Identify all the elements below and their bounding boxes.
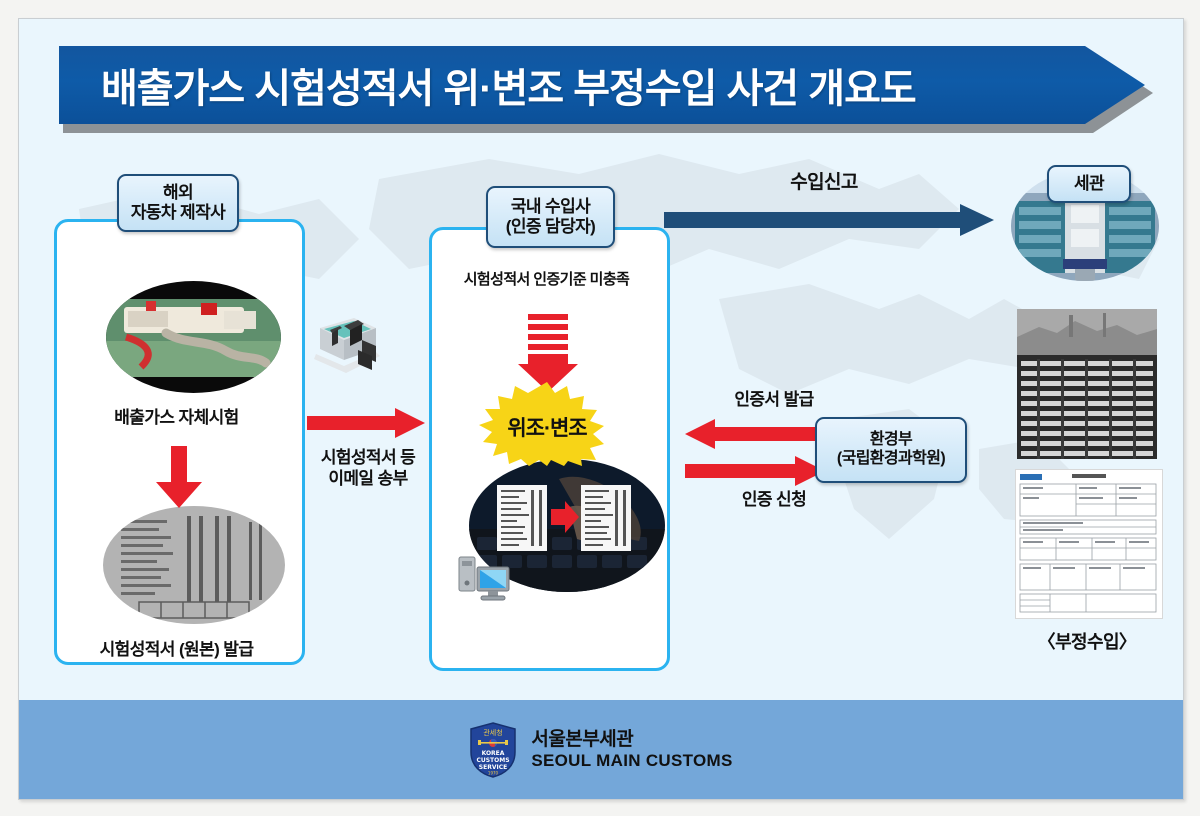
chip-ministry-line1: 환경부 xyxy=(870,431,912,450)
photo-import-declaration-form xyxy=(1015,469,1163,619)
chip-ministry-environment: 환경부 (국립환경과학원) xyxy=(815,417,967,483)
page-title: 배출가스 시험성적서 위·변조 부정수입 사건 개요도 xyxy=(59,56,916,114)
burst-forgery: 위조·변조 xyxy=(471,382,623,466)
footer-org-text: 서울본부세관 SEOUL MAIN CUSTOMS xyxy=(531,729,732,770)
arrow-right-red-email xyxy=(307,408,425,438)
photo-car-lot xyxy=(1017,309,1157,459)
caption-email-send-line1: 시험성적서 등 xyxy=(304,447,432,468)
banner-body: 배출가스 시험성적서 위·변조 부정수입 사건 개요도 xyxy=(59,46,1145,124)
caption-email-send: 시험성적서 등 이메일 송부 xyxy=(304,447,432,490)
arrow-left-red-cert-issue xyxy=(685,419,825,449)
burst-forgery-label: 위조·변조 xyxy=(471,412,623,442)
content-card: 배출가스 시험성적서 위·변조 부정수입 사건 개요도 해외 자동차 제작사 xyxy=(18,18,1184,800)
chip-overseas-maker: 해외 자동차 제작사 xyxy=(117,174,239,232)
chip-domestic-importer: 국내 수입사 (인증 담당자) xyxy=(486,186,615,248)
chip-ministry-line2: (국립환경과학원) xyxy=(837,450,945,469)
photo-emission-test xyxy=(106,281,281,393)
chip-overseas-maker-line1: 해외 xyxy=(163,183,193,203)
arrow-right-navy-import xyxy=(664,204,994,236)
caption-import-declaration: 수입신고 xyxy=(719,171,929,195)
caption-not-meeting-standard: 시험성적서 인증기준 미충족 xyxy=(429,271,664,290)
caption-email-send-line2: 이메일 송부 xyxy=(304,468,432,489)
caption-cert-issue: 인증서 발급 xyxy=(679,389,869,410)
caption-self-test: 배출가스 자체시험 xyxy=(54,407,299,428)
chip-customs: 세관 xyxy=(1047,165,1131,203)
desktop-computer-icon xyxy=(457,553,515,605)
infographic-page: 배출가스 시험성적서 위·변조 부정수입 사건 개요도 해외 자동차 제작사 xyxy=(0,0,1200,816)
footer-org-en: SEOUL MAIN CUSTOMS xyxy=(531,751,732,771)
caption-original-report: 시험성적서 (원본) 발급 xyxy=(49,639,304,660)
chip-domestic-importer-line1: 국내 수입사 xyxy=(511,197,590,217)
logo-line1-text: KOREA xyxy=(482,750,505,757)
arrow-down-red-striped xyxy=(517,314,579,392)
footer-org-ko: 서울본부세관 xyxy=(531,729,732,751)
caption-cert-apply: 인증 신청 xyxy=(679,489,869,510)
arrow-right-red-cert-apply xyxy=(685,456,825,486)
chip-domestic-importer-line2: (인증 담당자) xyxy=(506,217,595,237)
chip-overseas-maker-line2: 자동차 제작사 xyxy=(131,203,225,223)
korea-customs-service-logo-icon: 관세청 KOREA CUSTOMS SERVICE 1970 xyxy=(469,722,517,778)
photo-original-test-report xyxy=(103,506,285,624)
footer-band: 관세청 KOREA CUSTOMS SERVICE 1970 서울본부세관 SE… xyxy=(19,700,1183,799)
logo-line2-text: CUSTOMS xyxy=(477,757,510,764)
caption-illegal-import: 〈부정수입〉 xyxy=(1007,631,1167,654)
laptop-email-icon xyxy=(314,316,394,394)
logo-year-text: 1970 xyxy=(488,770,499,775)
arrow-down-red-left xyxy=(154,446,204,508)
logo-top-text: 관세청 xyxy=(484,728,503,737)
title-banner: 배출가스 시험성적서 위·변조 부정수입 사건 개요도 xyxy=(59,46,1149,128)
